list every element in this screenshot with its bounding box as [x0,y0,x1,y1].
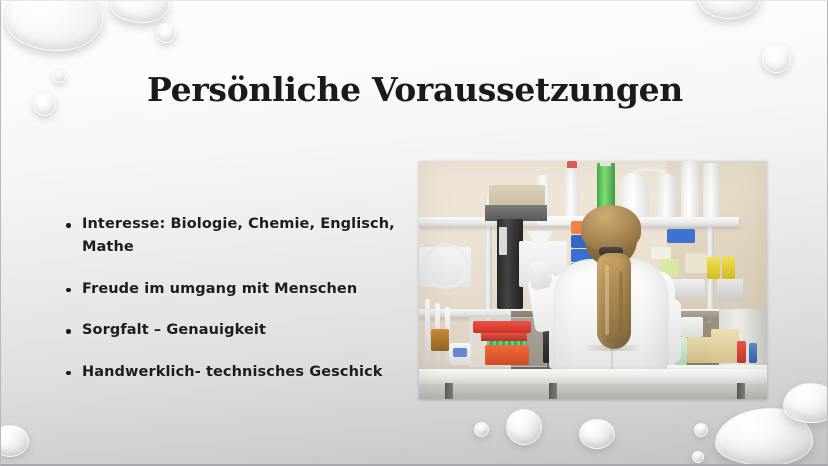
bubble-icon [0,425,29,457]
bubble-icon [762,44,791,73]
photo-vignette [419,161,767,399]
water-droplet-icon [698,0,760,19]
bubble-icon [474,422,489,437]
water-droplet-icon [5,0,103,51]
bubble-icon [579,419,615,449]
water-droplet-icon [783,383,828,423]
water-droplet-icon [111,0,169,23]
bullet-list: Interesse: Biologie, Chemie, Englisch, M… [63,213,413,384]
bubble-icon [156,23,176,43]
list-item: Freude im umgang mit Menschen [63,278,413,301]
list-item: Sorgfalt – Genauigkeit [63,319,413,342]
list-item: Handwerklich- technisches Geschick [63,361,413,384]
bubble-icon [692,451,704,463]
list-item: Interesse: Biologie, Chemie, Englisch, M… [63,213,413,260]
bubble-icon [694,423,708,437]
bubble-icon [506,409,542,445]
laboratory-photo [419,161,767,399]
water-droplet-icon [715,408,813,466]
presentation-slide: Persönliche Voraussetzungen Interesse: B… [0,0,828,466]
slide-title: Persönliche Voraussetzungen [1,71,828,110]
